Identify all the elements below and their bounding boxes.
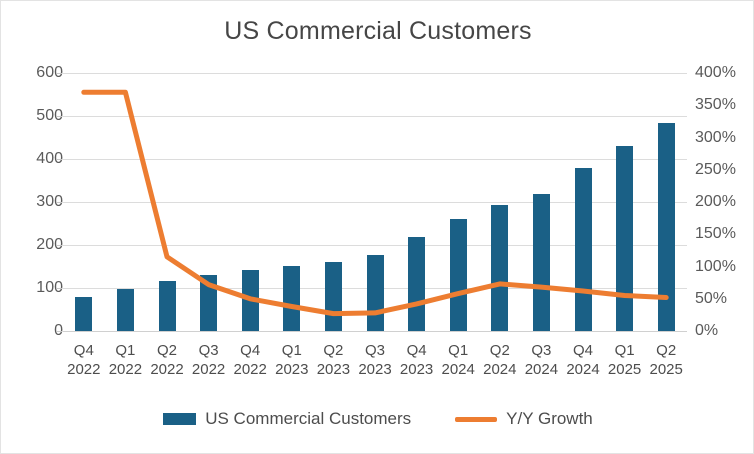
- left-axis-tick-label: 300: [3, 194, 63, 210]
- left-axis-tick-label: 100: [3, 280, 63, 296]
- left-axis-tick: [57, 202, 62, 203]
- x-axis-quarter: Q1: [102, 341, 148, 360]
- x-axis-tick-label: Q22022: [144, 341, 190, 379]
- x-axis-year: 2022: [186, 360, 232, 379]
- x-axis-quarter: Q3: [518, 341, 564, 360]
- x-axis-year: 2024: [518, 360, 564, 379]
- x-axis-year: 2023: [352, 360, 398, 379]
- x-axis-quarter: Q2: [310, 341, 356, 360]
- right-axis-tick-label: 100%: [695, 259, 754, 275]
- left-axis-tick: [57, 331, 62, 332]
- right-axis-tick-label: 250%: [695, 162, 754, 178]
- right-axis-tick-label: 200%: [695, 194, 754, 210]
- left-axis-tick-label: 600: [3, 65, 63, 81]
- legend-label: Y/Y Growth: [506, 409, 593, 429]
- x-axis-year: 2024: [435, 360, 481, 379]
- right-axis-tick-label: 150%: [695, 226, 754, 242]
- x-axis-tick-label: Q12023: [269, 341, 315, 379]
- legend-label: US Commercial Customers: [205, 409, 411, 429]
- chart-title: US Commercial Customers: [1, 17, 754, 46]
- left-axis-tick: [57, 159, 62, 160]
- x-axis-quarter: Q2: [477, 341, 523, 360]
- x-axis-year: 2022: [102, 360, 148, 379]
- x-axis-year: 2023: [310, 360, 356, 379]
- x-axis-quarter: Q1: [435, 341, 481, 360]
- left-axis-tick: [57, 116, 62, 117]
- left-axis-tick: [57, 245, 62, 246]
- x-axis-quarter: Q2: [643, 341, 689, 360]
- x-axis-tick-label: Q32024: [518, 341, 564, 379]
- x-axis-tick-label: Q32023: [352, 341, 398, 379]
- x-axis-tick-label: Q42023: [394, 341, 440, 379]
- x-axis-quarter: Q1: [602, 341, 648, 360]
- line-series: [63, 73, 687, 331]
- left-axis-tick-label: 500: [3, 108, 63, 124]
- x-axis-tick-label: Q42022: [227, 341, 273, 379]
- left-axis-tick-label: 400: [3, 151, 63, 167]
- x-axis-tick-label: Q12022: [102, 341, 148, 379]
- x-axis-tick-label: Q12025: [602, 341, 648, 379]
- yy-growth-line: [84, 92, 666, 313]
- zero-axis-line: [63, 331, 687, 332]
- x-axis-year: 2023: [269, 360, 315, 379]
- x-axis-quarter: Q3: [352, 341, 398, 360]
- legend-item[interactable]: US Commercial Customers: [163, 409, 411, 429]
- x-axis-year: 2022: [227, 360, 273, 379]
- left-axis-tick: [57, 73, 62, 74]
- right-axis-tick-label: 350%: [695, 97, 754, 113]
- chart-card: US Commercial Customers 0100200300400500…: [0, 0, 754, 454]
- right-axis-tick-label: 0%: [695, 323, 754, 339]
- plot-area: [63, 73, 687, 331]
- legend-item[interactable]: Y/Y Growth: [455, 409, 593, 429]
- x-axis-quarter: Q4: [394, 341, 440, 360]
- x-axis-tick-label: Q22024: [477, 341, 523, 379]
- right-axis-tick-label: 300%: [695, 130, 754, 146]
- x-axis-tick-label: Q12024: [435, 341, 481, 379]
- x-axis-quarter: Q4: [61, 341, 107, 360]
- x-axis-quarter: Q4: [560, 341, 606, 360]
- x-axis-quarter: Q1: [269, 341, 315, 360]
- right-axis-tick-label: 50%: [695, 291, 754, 307]
- legend-line-swatch-icon: [455, 417, 497, 422]
- x-axis-year: 2023: [394, 360, 440, 379]
- x-axis-tick-label: Q32022: [186, 341, 232, 379]
- x-axis-tick-label: Q22025: [643, 341, 689, 379]
- left-axis-tick-label: 0: [3, 323, 63, 339]
- right-axis-tick-label: 400%: [695, 65, 754, 81]
- x-axis-tick-label: Q42024: [560, 341, 606, 379]
- x-axis-year: 2022: [144, 360, 190, 379]
- x-axis-quarter: Q2: [144, 341, 190, 360]
- x-axis-year: 2022: [61, 360, 107, 379]
- left-axis-tick-label: 200: [3, 237, 63, 253]
- x-axis-quarter: Q4: [227, 341, 273, 360]
- x-axis-quarter: Q3: [186, 341, 232, 360]
- legend-bar-swatch-icon: [163, 413, 196, 425]
- x-axis-year: 2024: [477, 360, 523, 379]
- x-axis-tick-label: Q42022: [61, 341, 107, 379]
- x-axis-year: 2025: [602, 360, 648, 379]
- x-axis-year: 2025: [643, 360, 689, 379]
- chart-legend: US Commercial CustomersY/Y Growth: [1, 409, 754, 429]
- x-axis-year: 2024: [560, 360, 606, 379]
- left-axis-tick: [57, 288, 62, 289]
- x-axis-tick-label: Q22023: [310, 341, 356, 379]
